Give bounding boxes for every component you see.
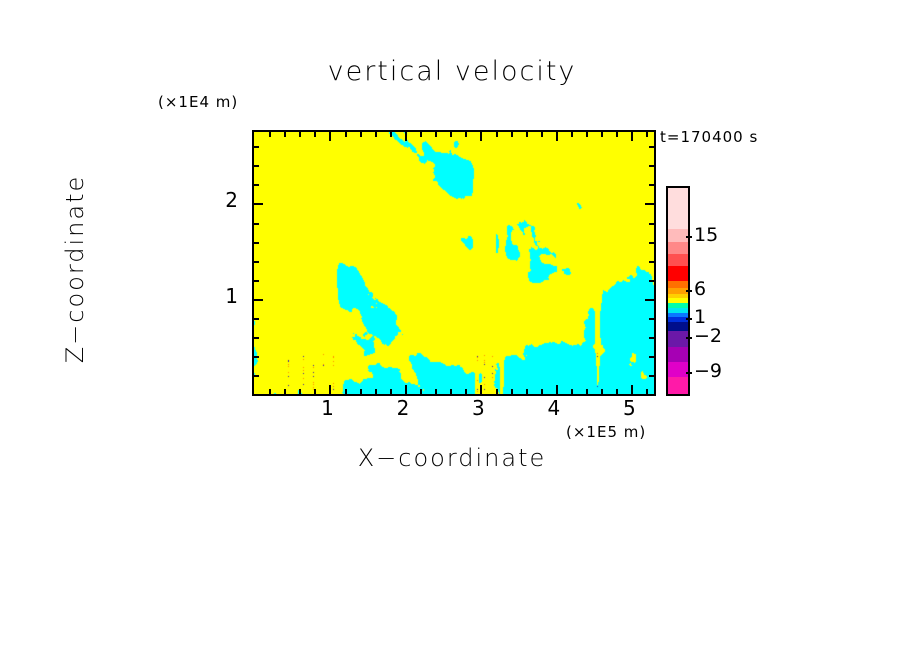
contour-plot-area [252,130,656,396]
y-tick-minor [254,337,259,339]
x-tick-minor [496,389,498,394]
x-tick-minor [314,389,316,394]
x-axis-unit-label: (×1E5 m) [566,423,646,441]
x-tick-minor-top [314,132,316,137]
x-tick-minor-top [571,132,573,137]
colorbar-band [668,362,688,378]
x-tick-major [329,385,331,394]
colorbar-tick [686,337,692,339]
y-tick-major-right [645,203,654,205]
colorbar-band [668,229,688,242]
y-tick-minor-right [649,146,654,148]
x-tick-minor-top [465,132,467,137]
x-tick-major [405,385,407,394]
x-tick-major-top [329,132,331,141]
x-tick-major-top [405,132,407,141]
y-tick-minor [254,318,259,320]
x-tick-minor [345,389,347,394]
y-tick-minor-right [649,223,654,225]
colorbar-band [668,331,688,347]
y-tick-label: 2 [214,188,238,212]
x-tick-minor [616,389,618,394]
x-tick-label: 1 [307,396,347,420]
x-tick-minor-top [616,132,618,137]
y-tick-minor [254,223,259,225]
x-tick-minor [541,389,543,394]
y-tick-minor-right [649,375,654,377]
colorbar-tick [686,372,692,374]
y-tick-major [254,299,263,301]
y-tick-minor [254,261,259,263]
x-tick-major-top [480,132,482,141]
colorbar-band [668,266,688,281]
x-tick-minor-top [390,132,392,137]
colorbar-band [668,322,688,331]
y-tick-minor-right [649,261,654,263]
y-axis-title: Z−coordinate [61,139,89,399]
y-tick-label: 1 [214,284,238,308]
x-tick-label: 5 [609,396,649,420]
x-tick-minor-top [269,132,271,137]
y-tick-minor-right [649,184,654,186]
x-tick-major [480,385,482,394]
x-axis-title: X−coordinate [0,444,904,472]
x-tick-minor-top [375,132,377,137]
y-tick-minor-right [649,337,654,339]
x-tick-minor [511,389,513,394]
x-tick-minor-top [284,132,286,137]
page-title: vertical velocity [0,56,904,87]
colorbar-band [668,242,688,254]
x-tick-minor-top [496,132,498,137]
x-tick-minor-top [420,132,422,137]
x-tick-minor [435,389,437,394]
y-tick-minor [254,165,259,167]
y-tick-minor [254,375,259,377]
y-axis-unit-label: (×1E4 m) [158,93,238,111]
x-tick-minor [360,389,362,394]
x-tick-minor [269,389,271,394]
x-tick-minor [646,389,648,394]
x-tick-minor-top [586,132,588,137]
x-tick-minor-top [299,132,301,137]
colorbar-band [668,254,688,266]
time-annotation: t=170400 s [660,128,758,146]
x-tick-minor-top [646,132,648,137]
colorbar-band [668,347,688,362]
x-tick-major-top [556,132,558,141]
y-tick-minor-right [649,242,654,244]
x-tick-minor [390,389,392,394]
y-tick-minor [254,242,259,244]
x-tick-minor [571,389,573,394]
x-tick-major [631,385,633,394]
colorbar-tick [686,290,692,292]
colorbar-band [668,188,688,229]
x-tick-minor-top [511,132,513,137]
x-tick-minor [465,389,467,394]
x-tick-label: 2 [383,396,423,420]
x-tick-major-top [631,132,633,141]
colorbar-tick-label: −9 [694,360,722,382]
colorbar-tick-label: 6 [694,278,706,300]
x-tick-minor [420,389,422,394]
x-tick-minor [299,389,301,394]
x-tick-minor-top [345,132,347,137]
x-tick-label: 3 [458,396,498,420]
x-tick-minor [526,389,528,394]
y-tick-minor [254,280,259,282]
y-tick-major-right [645,299,654,301]
colorbar-band [668,377,688,394]
y-tick-minor-right [649,318,654,320]
colorbar-tick [686,236,692,238]
x-tick-minor-top [435,132,437,137]
x-tick-minor-top [360,132,362,137]
x-tick-label: 4 [534,396,574,420]
colorbar-tick [686,318,692,320]
x-tick-minor [586,389,588,394]
y-tick-minor [254,184,259,186]
y-tick-major [254,203,263,205]
y-tick-minor-right [649,280,654,282]
x-tick-minor-top [601,132,603,137]
y-tick-minor [254,146,259,148]
x-tick-minor [284,389,286,394]
y-tick-minor-right [649,165,654,167]
y-tick-minor [254,356,259,358]
x-tick-minor-top [541,132,543,137]
x-tick-minor [375,389,377,394]
x-tick-minor-top [526,132,528,137]
x-tick-minor [601,389,603,394]
x-tick-minor [450,389,452,394]
x-tick-minor-top [450,132,452,137]
x-tick-major [556,385,558,394]
colorbar-tick-label: 15 [694,224,718,246]
colorbar-tick-label: −2 [694,325,722,347]
vertical-velocity-field [254,132,654,394]
colorbar-band [668,281,688,288]
y-tick-minor-right [649,356,654,358]
